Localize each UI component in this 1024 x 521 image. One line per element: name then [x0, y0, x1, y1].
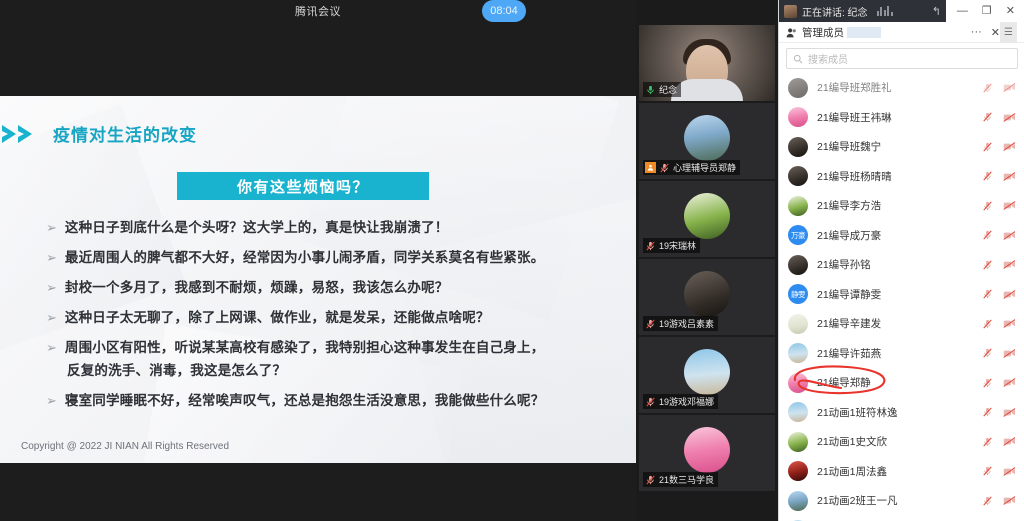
participant-media-icons [982, 436, 1016, 448]
speaker-label: 正在讲话: 纪念 [802, 4, 868, 19]
panel-title: 管理成员 [802, 25, 844, 40]
bullet-arrow-icon: ➢ [46, 248, 57, 267]
participant-name: 21动画1班符林逸 [817, 405, 982, 420]
participant-media-icons [982, 347, 1016, 359]
tile-participant-name: 心理辅导员郑静 [673, 161, 736, 174]
camera-off-icon[interactable] [1003, 495, 1016, 506]
participants-panel: — ❐ ✕ 正在讲话: 纪念 ↰ 管理成员 ··· ✕ ☰ [778, 0, 1024, 521]
participant-row[interactable]: 21编导许茹燕 [779, 339, 1024, 369]
bullet-text: 周围小区有阳性，听说某某高校有感染了，我特别担心这种事发生在自己身上， [65, 338, 545, 357]
shared-slide: 疫情对生活的改变 你有这些烦恼吗？ ➢ 这种日子到底什么是个头呀？这大学上的，真… [0, 96, 636, 463]
search-icon [793, 54, 803, 64]
mic-muted-icon[interactable] [982, 141, 993, 153]
participant-row[interactable]: 21编导孙铭 [779, 250, 1024, 280]
tile-avatar [684, 115, 730, 161]
participant-media-icons [982, 288, 1016, 300]
participant-name: 21动画2班王一凡 [817, 493, 982, 508]
bullet-item: ➢ 封校一个多月了，我感到不耐烦，烦躁，易怒，我该怎么办呢？ [46, 278, 606, 297]
mic-muted-icon[interactable] [645, 318, 656, 330]
participant-avatar [788, 166, 808, 186]
participant-avatar [788, 373, 808, 393]
participant-name: 21编导班杨晴晴 [817, 169, 982, 184]
participant-media-icons [982, 465, 1016, 477]
participant-media-icons [982, 229, 1016, 241]
bullet-arrow-icon: ➢ [46, 278, 57, 297]
mic-muted-icon[interactable] [982, 288, 993, 300]
participant-row[interactable]: 21动画1班符林逸 [779, 398, 1024, 428]
participant-media-icons [982, 259, 1016, 271]
slide-title-row: 疫情对生活的改变 [0, 121, 197, 146]
participant-name: 21编导班郑胜礼 [817, 80, 982, 95]
participant-media-icons [982, 495, 1016, 507]
slide-title: 疫情对生活的改变 [53, 121, 197, 146]
tile-label: 纪念 [643, 82, 681, 97]
participant-avatar-initials: 静雯 [788, 284, 808, 304]
bullet-text: 这种日子太无聊了，除了上网课、做作业，就是发呆，还能做点啥呢？ [65, 308, 490, 327]
mic-muted-icon[interactable] [982, 259, 993, 271]
panel-dock-tab[interactable]: ☰ [1000, 22, 1017, 43]
participant-row[interactable]: 21编导班郑胜礼 [779, 73, 1024, 103]
participant-avatar-initials: 万豪 [788, 225, 808, 245]
bullet-text: 最近周围人的脾气都不大好，经常因为小事儿闹矛盾，同学关系莫名有些紧张。 [65, 248, 545, 267]
mic-muted-icon[interactable] [982, 406, 993, 418]
participant-avatar [788, 461, 808, 481]
collapse-arrow-icon[interactable]: ↰ [932, 5, 941, 18]
camera-off-icon[interactable] [1003, 82, 1016, 93]
participant-name: 21编导班王祎琳 [817, 110, 982, 125]
camera-off-icon[interactable] [1003, 230, 1016, 241]
participant-avatar [788, 196, 808, 216]
participant-name: 21动画1史文欣 [817, 434, 982, 449]
active-speaker-indicator: 正在讲话: 纪念 ↰ [779, 0, 946, 22]
panel-title-redaction [847, 27, 881, 38]
camera-off-icon[interactable] [1003, 141, 1016, 152]
participant-row[interactable]: 21编导班王祎琳 [779, 103, 1024, 133]
mic-muted-icon[interactable] [645, 474, 656, 486]
participant-name: 21编导班魏宁 [817, 139, 982, 154]
mic-muted-icon[interactable] [982, 229, 993, 241]
camera-off-icon[interactable] [1003, 377, 1016, 388]
camera-off-icon[interactable] [1003, 200, 1016, 211]
participant-name: 21编导李方浩 [817, 198, 982, 213]
video-tile[interactable]: 19宋瑞林 [639, 181, 775, 257]
people-icon [786, 27, 797, 38]
participant-row[interactable]: 万豪21编导成万豪 [779, 221, 1024, 251]
participant-name: 21编导谭静雯 [817, 287, 982, 302]
close-icon[interactable]: ✕ [1006, 6, 1015, 17]
participant-avatar [788, 343, 808, 363]
speaker-avatar [784, 5, 797, 18]
participant-avatar [788, 78, 808, 98]
participant-row[interactable]: 21编导班杨晴晴 [779, 162, 1024, 192]
mic-muted-icon[interactable] [982, 200, 993, 212]
mic-on-icon[interactable] [645, 84, 656, 96]
minimize-icon[interactable]: — [957, 6, 968, 17]
participant-avatar [788, 314, 808, 334]
video-tile[interactable]: 21数三马学良 [639, 415, 775, 491]
camera-off-icon[interactable] [1003, 289, 1016, 300]
tile-avatar [684, 427, 730, 473]
bullet-text-continuation: 反复的洗手、消毒，我这是怎么了？ [67, 361, 606, 380]
tile-label: 19游戏邓福娜 [643, 394, 718, 409]
tile-avatar [684, 349, 730, 395]
participant-avatar [788, 432, 808, 452]
participant-media-icons [982, 170, 1016, 182]
slide-banner-text: 你有这些烦恼吗？ [237, 176, 369, 197]
mic-muted-icon[interactable] [645, 396, 656, 408]
tile-participant-name: 19游戏邓福娜 [659, 395, 714, 408]
participant-row[interactable]: 21动画2班王一凡 [779, 486, 1024, 516]
bullet-item: ➢ 寝室同学睡眠不好，经常唉声叹气，还总是抱怨生活没意思，我能做些什么呢？ [46, 391, 606, 410]
tile-participant-name: 纪念 [659, 83, 677, 96]
camera-off-icon[interactable] [1003, 436, 1016, 447]
mic-muted-icon[interactable] [982, 170, 993, 182]
participant-row[interactable]: 21编导班魏宁 [779, 132, 1024, 162]
panel-close-icon[interactable]: ✕ [991, 26, 1000, 39]
slide-copyright: Copyright @ 2022 JI NIAN All Rights Rese… [21, 441, 229, 452]
video-tile[interactable]: 心理辅导员郑静 [639, 103, 775, 179]
camera-off-icon[interactable] [1003, 259, 1016, 270]
mic-muted-icon[interactable] [982, 82, 993, 94]
participant-row[interactable]: 21编导李方浩 [779, 191, 1024, 221]
bullet-text: 封校一个多月了，我感到不耐烦，烦躁，易怒，我该怎么办呢？ [65, 278, 449, 297]
participant-media-icons [982, 141, 1016, 153]
slide-bullet-list: ➢ 这种日子到底什么是个头呀？这大学上的，真是快让我崩溃了！ ➢ 最近周围人的脾… [46, 218, 606, 421]
video-filmstrip[interactable]: 纪念心理辅导员郑静19宋瑞林19游戏吕素素19游戏邓福娜21数三马学良 [636, 0, 778, 521]
participant-name: 21编导许茹燕 [817, 346, 982, 361]
bullet-arrow-icon: ➢ [46, 218, 57, 237]
bullet-arrow-icon: ➢ [46, 391, 57, 410]
bullet-text: 寝室同学睡眠不好，经常唉声叹气，还总是抱怨生活没意思，我能做些什么呢？ [65, 391, 545, 410]
bullet-item: ➢ 这种日子太无聊了，除了上网课、做作业，就是发呆，还能做点啥呢？ [46, 308, 606, 327]
mic-muted-icon[interactable] [982, 436, 993, 448]
video-tile[interactable]: 19游戏吕素素 [639, 259, 775, 335]
panel-header: 管理成员 ··· ✕ ☰ [779, 22, 1024, 43]
mic-muted-icon[interactable] [982, 318, 993, 330]
meeting-stage: 腾讯会议 08:04 疫情对生活的改变 你有这些烦恼吗？ ➢ [0, 0, 636, 521]
mic-muted-icon[interactable] [659, 162, 670, 174]
camera-off-icon[interactable] [1003, 171, 1016, 182]
participant-avatar [788, 107, 808, 127]
participant-media-icons [982, 377, 1016, 389]
slide-banner: 你有这些烦恼吗？ [177, 172, 429, 200]
participant-row[interactable]: 21动画1周法鑫 [779, 457, 1024, 487]
participant-name: 21编导辛建发 [817, 316, 982, 331]
tile-label: 19宋瑞林 [643, 238, 700, 253]
tile-avatar [684, 271, 730, 317]
mic-muted-icon[interactable] [982, 347, 993, 359]
meeting-timer[interactable]: 08:04 [482, 0, 526, 22]
participant-media-icons [982, 111, 1016, 123]
tile-participant-name: 19宋瑞林 [659, 239, 696, 252]
participant-avatar [788, 402, 808, 422]
more-options-icon[interactable]: ··· [971, 26, 982, 38]
tile-avatar [684, 193, 730, 239]
camera-off-icon[interactable] [1003, 318, 1016, 329]
mic-muted-icon[interactable] [645, 240, 656, 252]
participant-media-icons [982, 406, 1016, 418]
camera-off-icon[interactable] [1003, 348, 1016, 359]
double-chevron-icon [0, 122, 44, 146]
video-tile[interactable]: 纪念 [639, 25, 775, 101]
bullet-arrow-icon: ➢ [46, 338, 57, 357]
video-tile[interactable]: 19游戏邓福娜 [639, 337, 775, 413]
search-placeholder: 搜索成员 [808, 51, 848, 66]
participant-row[interactable]: 21编导郑静 [779, 368, 1024, 398]
maximize-icon[interactable]: ❐ [982, 6, 992, 17]
participant-name: 21编导成万豪 [817, 228, 982, 243]
tile-participant-name: 19游戏吕素素 [659, 317, 714, 330]
bullet-arrow-icon: ➢ [46, 308, 57, 327]
tile-label: 心理辅导员郑静 [643, 160, 740, 175]
audio-wave-icon [877, 6, 893, 16]
bullet-item: ➢ 周围小区有阳性，听说某某高校有感染了，我特别担心这种事发生在自己身上， [46, 338, 606, 357]
participant-media-icons [982, 200, 1016, 212]
app-title: 腾讯会议 [295, 3, 341, 19]
host-badge-icon [645, 162, 656, 173]
participant-name: 21编导孙铭 [817, 257, 982, 272]
panel-header-actions: ··· ✕ [971, 26, 1000, 39]
participants-list[interactable]: 21编导班郑胜礼21编导班王祎琳21编导班魏宁21编导班杨晴晴21编导李方浩万豪… [779, 73, 1024, 521]
tile-label: 21数三马学良 [643, 472, 718, 487]
tile-participant-name: 21数三马学良 [659, 473, 714, 486]
participant-media-icons [982, 82, 1016, 94]
participant-name: 21编导郑静 [817, 375, 982, 390]
participant-row[interactable]: 21动画1史文欣 [779, 427, 1024, 457]
bullet-item: ➢ 最近周围人的脾气都不大好，经常因为小事儿闹矛盾，同学关系莫名有些紧张。 [46, 248, 606, 267]
mic-muted-icon[interactable] [982, 111, 993, 123]
camera-off-icon[interactable] [1003, 112, 1016, 123]
tile-video-body [671, 79, 743, 101]
tencent-meeting-window: 腾讯会议 08:04 疫情对生活的改变 你有这些烦恼吗？ ➢ [0, 0, 1024, 521]
participant-row[interactable]: 21编导辛建发 [779, 309, 1024, 339]
tile-label: 19游戏吕素素 [643, 316, 718, 331]
mic-muted-icon[interactable] [982, 465, 993, 477]
mic-muted-icon[interactable] [982, 377, 993, 389]
participant-name: 21动画1周法鑫 [817, 464, 982, 479]
participant-row[interactable]: 静雯21编导谭静雯 [779, 280, 1024, 310]
search-members-field[interactable]: 搜索成员 [786, 48, 1018, 69]
participant-avatar [788, 491, 808, 511]
meeting-topbar: 腾讯会议 [0, 0, 636, 22]
participant-avatar [788, 255, 808, 275]
bullet-item: ➢ 这种日子到底什么是个头呀？这大学上的，真是快让我崩溃了！ [46, 218, 606, 237]
mic-muted-icon[interactable] [982, 495, 993, 507]
participant-media-icons [982, 318, 1016, 330]
camera-off-icon[interactable] [1003, 466, 1016, 477]
participant-row[interactable]: 21动画2班孙伯勇 [779, 516, 1024, 521]
bullet-text: 这种日子到底什么是个头呀？这大学上的，真是快让我崩溃了！ [65, 218, 449, 237]
camera-off-icon[interactable] [1003, 407, 1016, 418]
participant-avatar [788, 137, 808, 157]
